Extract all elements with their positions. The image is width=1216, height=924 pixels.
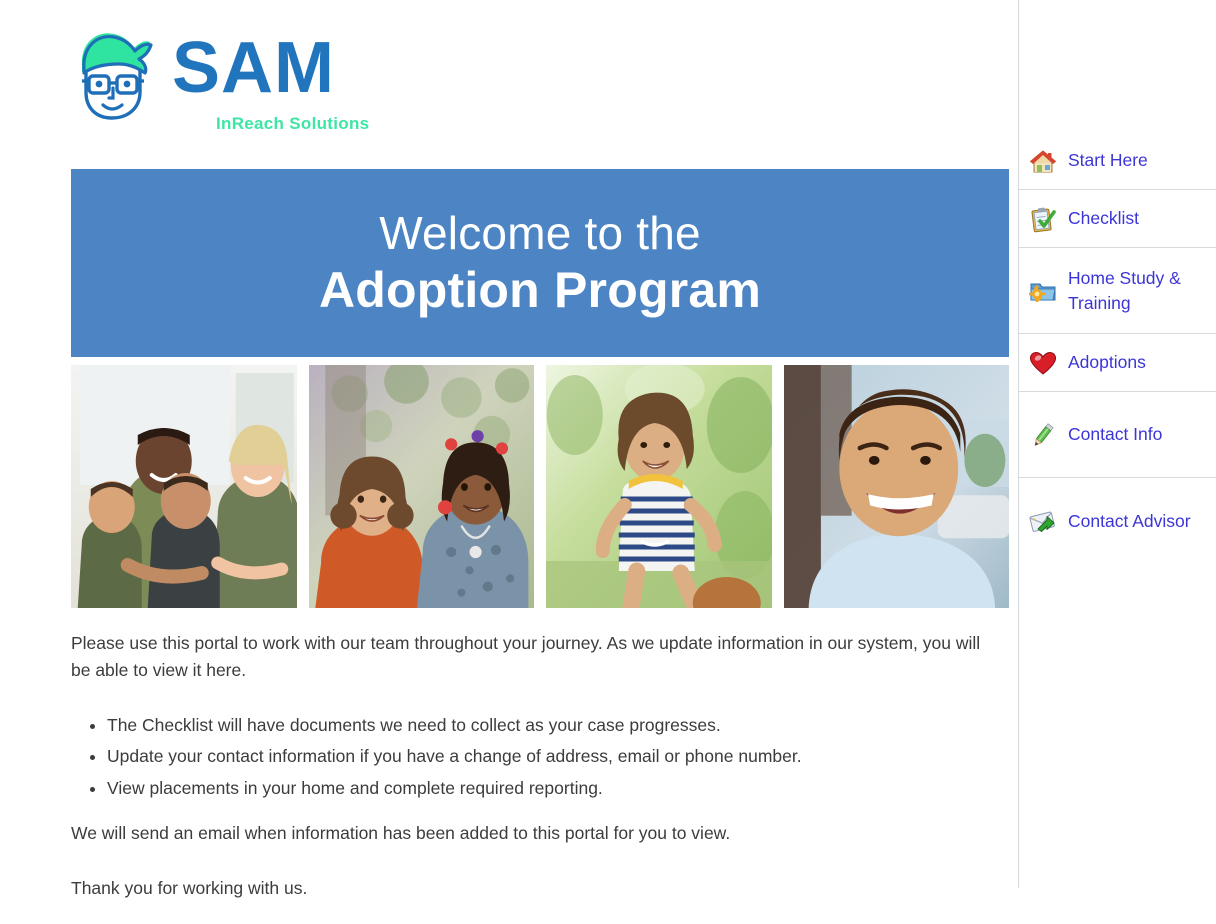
heart-icon bbox=[1028, 348, 1058, 378]
sidebar-item-checklist[interactable]: Checklist bbox=[1019, 190, 1216, 248]
list-item: Update your contact information if you h… bbox=[107, 743, 986, 770]
envelope-arrow-icon bbox=[1028, 506, 1058, 536]
sidebar-item-label: Start Here bbox=[1068, 148, 1148, 173]
sidebar-item-adoptions[interactable]: Adoptions bbox=[1019, 334, 1216, 392]
instruction-list: The Checklist will have documents we nee… bbox=[71, 712, 986, 801]
sidebar-item-label: Contact Info bbox=[1068, 422, 1162, 447]
portal-instructions: Please use this portal to work with our … bbox=[71, 630, 986, 924]
list-item: The Checklist will have documents we nee… bbox=[107, 712, 986, 739]
intro-paragraph: Please use this portal to work with our … bbox=[71, 630, 986, 684]
list-item: View placements in your home and complet… bbox=[107, 775, 986, 802]
folder-star-icon bbox=[1028, 276, 1058, 306]
clipboard-check-icon bbox=[1028, 204, 1058, 234]
main-content: Welcome to the Adoption Program bbox=[0, 0, 1018, 888]
house-icon bbox=[1028, 146, 1058, 176]
banner-line-1: Welcome to the bbox=[379, 206, 701, 260]
photo-collage bbox=[71, 365, 1009, 608]
sidebar-item-label: Contact Advisor bbox=[1068, 509, 1191, 534]
sidebar-item-home-study-training[interactable]: Home Study & Training bbox=[1019, 248, 1216, 334]
sidebar-item-label: Checklist bbox=[1068, 206, 1139, 231]
closing-paragraph: Thank you for working with us. bbox=[71, 875, 986, 902]
portal-page: SAM InReach Solutions Welcome to the Ado… bbox=[0, 0, 1216, 888]
sidebar-nav: Start Here Checklist bbox=[1018, 0, 1216, 888]
collage-photo-family bbox=[71, 365, 297, 608]
notice-paragraph: We will send an email when information h… bbox=[71, 820, 986, 847]
sidebar-item-label: Adoptions bbox=[1068, 350, 1146, 375]
sidebar-item-contact-info[interactable]: Contact Info bbox=[1019, 392, 1216, 478]
collage-photo-toddler-running bbox=[546, 365, 772, 608]
sidebar-item-contact-advisor[interactable]: Contact Advisor bbox=[1019, 478, 1216, 564]
collage-photo-two-girls bbox=[309, 365, 535, 608]
pencil-icon bbox=[1028, 420, 1058, 450]
collage-photo-smiling-boy bbox=[784, 365, 1010, 608]
welcome-banner: Welcome to the Adoption Program bbox=[71, 169, 1009, 357]
sidebar-item-label: Home Study & Training bbox=[1068, 266, 1208, 316]
banner-line-2: Adoption Program bbox=[319, 261, 761, 320]
sidebar-item-start-here[interactable]: Start Here bbox=[1019, 132, 1216, 190]
